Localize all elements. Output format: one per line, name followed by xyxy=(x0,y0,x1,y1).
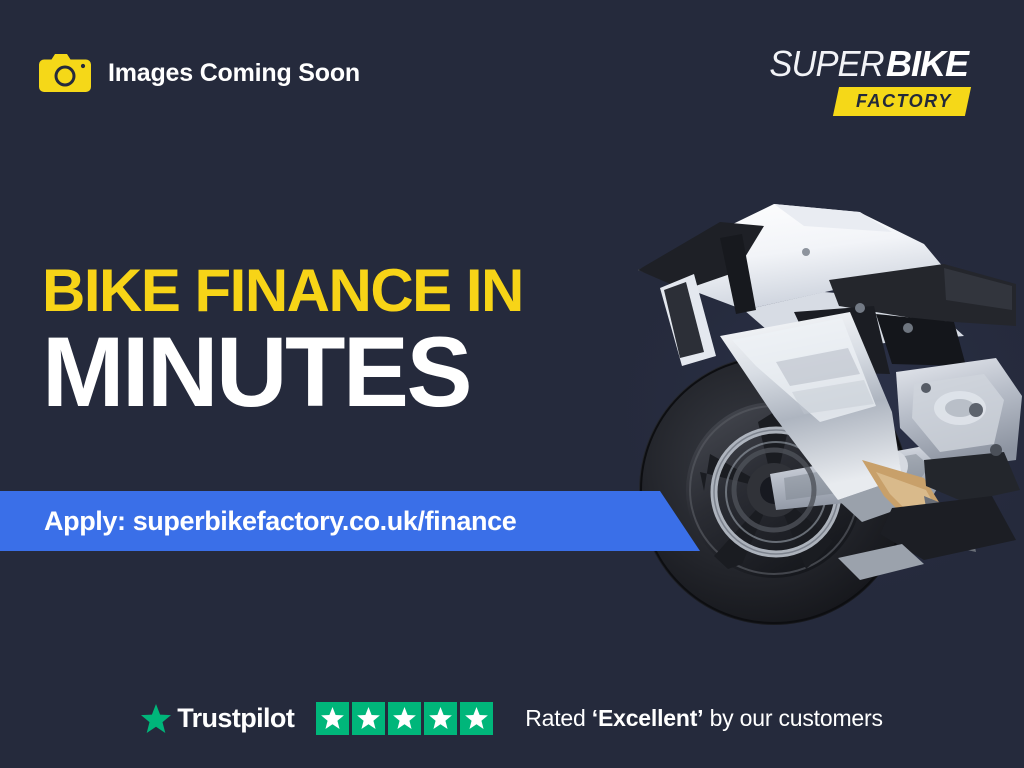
trustpilot-logo[interactable]: Trustpilot xyxy=(141,703,294,734)
top-bar: Images Coming Soon SUPERBIKE FACTORY xyxy=(0,0,1024,140)
rated-prefix: Rated xyxy=(525,705,592,731)
rated-excellent-text: Rated ‘Excellent’ by our customers xyxy=(525,705,883,732)
brand-factory-banner: FACTORY xyxy=(767,87,968,116)
camera-icon xyxy=(38,52,92,94)
apply-url-text: Apply: superbikefactory.co.uk/finance xyxy=(0,506,516,537)
hero-headline-line2: MINUTES xyxy=(42,325,523,419)
superbike-factory-logo[interactable]: SUPERBIKE FACTORY xyxy=(767,46,968,116)
motorcycle-rear-photo xyxy=(624,160,1024,630)
rated-suffix: by our customers xyxy=(703,705,882,731)
brand-wordmark: SUPERBIKE xyxy=(767,46,968,82)
brand-factory-plate: FACTORY xyxy=(833,87,971,116)
hero-headline-line1: BIKE FINANCE IN xyxy=(42,262,523,321)
trustpilot-wordmark: Trustpilot xyxy=(177,703,294,734)
rating-star-2 xyxy=(352,702,385,735)
images-coming-soon-label: Images Coming Soon xyxy=(108,59,360,88)
trustpilot-star-icon xyxy=(141,704,171,733)
brand-factory-text: FACTORY xyxy=(856,91,952,112)
trustpilot-star-rating xyxy=(316,702,493,735)
rated-highlight: ‘Excellent’ xyxy=(592,705,704,731)
rating-star-5 xyxy=(460,702,493,735)
brand-super-text: SUPER xyxy=(769,46,883,82)
trustpilot-footer: Trustpilot Rated ‘Excellent’ by our cust… xyxy=(0,668,1024,768)
promo-banner-canvas: Images Coming Soon SUPERBIKE FACTORY xyxy=(0,0,1024,768)
rating-star-1 xyxy=(316,702,349,735)
rating-star-4 xyxy=(424,702,457,735)
images-coming-soon-block: Images Coming Soon xyxy=(38,52,360,94)
rating-star-3 xyxy=(388,702,421,735)
apply-cta-banner[interactable]: Apply: superbikefactory.co.uk/finance xyxy=(0,491,700,551)
hero-copy: BIKE FINANCE IN MINUTES xyxy=(42,262,523,419)
brand-bike-text: BIKE xyxy=(886,43,968,84)
